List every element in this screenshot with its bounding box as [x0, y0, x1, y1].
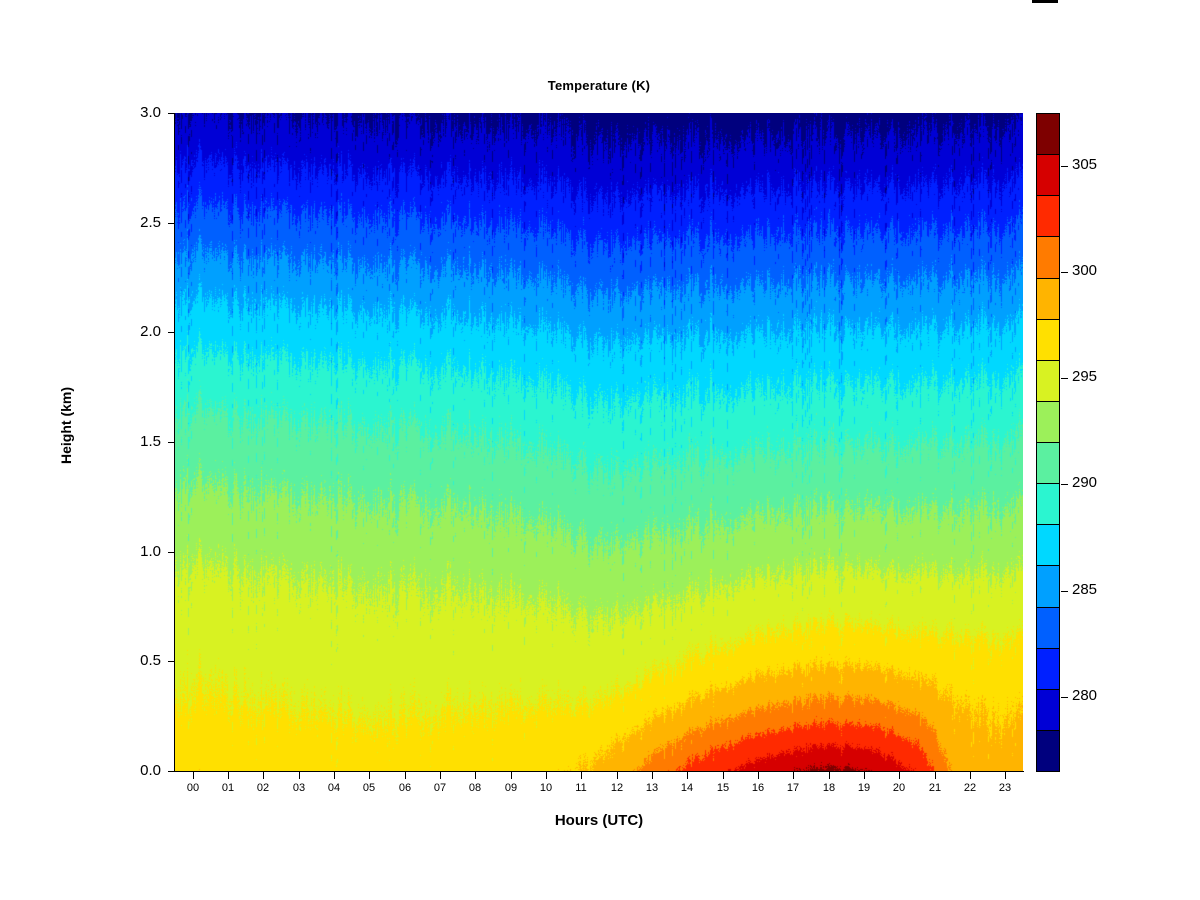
x-tick-mark [511, 772, 512, 779]
colorbar-band[interactable] [1036, 401, 1060, 443]
y-tick-mark [168, 332, 175, 333]
colorbar-band[interactable] [1036, 442, 1060, 484]
colorbar-band[interactable] [1036, 565, 1060, 607]
x-tick-mark [405, 772, 406, 779]
x-tick-label: 06 [399, 782, 411, 794]
y-tick-mark [168, 552, 175, 553]
x-tick-mark [899, 772, 900, 779]
y-tick-label: 1.5 [117, 433, 161, 450]
y-tick-label: 0.5 [117, 652, 161, 669]
x-tick-mark [263, 772, 264, 779]
colorbar-tick-label: 295 [1072, 368, 1097, 385]
y-tick-mark [168, 771, 175, 772]
x-axis-spine [174, 771, 1024, 772]
x-tick-label: 19 [858, 782, 870, 794]
x-tick-mark [299, 772, 300, 779]
x-tick-mark [369, 772, 370, 779]
x-tick-label: 09 [505, 782, 517, 794]
x-tick-mark [475, 772, 476, 779]
y-axis-label: Height (km) [58, 436, 74, 464]
colorbar-tick-mark [1061, 166, 1068, 167]
x-tick-label: 13 [646, 782, 658, 794]
colorbar-band[interactable] [1036, 360, 1060, 402]
x-tick-label: 23 [999, 782, 1011, 794]
x-tick-label: 17 [787, 782, 799, 794]
colorbar-band[interactable] [1036, 154, 1060, 196]
x-tick-mark [864, 772, 865, 779]
y-tick-mark [168, 442, 175, 443]
colorbar-band[interactable] [1036, 319, 1060, 361]
colorbar-tick-mark [1061, 484, 1068, 485]
colorbar-band[interactable] [1036, 689, 1060, 731]
x-tick-mark [228, 772, 229, 779]
x-tick-label: 22 [964, 782, 976, 794]
top-edge-artifact [1032, 0, 1058, 3]
x-tick-label: 18 [823, 782, 835, 794]
colorbar[interactable] [1036, 113, 1060, 771]
heatmap-plot-area[interactable] [175, 113, 1023, 771]
colorbar-band[interactable] [1036, 524, 1060, 566]
x-tick-label: 20 [893, 782, 905, 794]
colorbar-tick-label: 305 [1072, 156, 1097, 173]
colorbar-tick-mark [1061, 591, 1068, 592]
colorbar-band[interactable] [1036, 607, 1060, 649]
x-tick-label: 12 [611, 782, 623, 794]
colorbar-tick-mark [1061, 272, 1068, 273]
y-tick-mark [168, 223, 175, 224]
x-tick-label: 04 [328, 782, 340, 794]
x-tick-label: 11 [575, 782, 586, 794]
x-tick-mark [581, 772, 582, 779]
x-tick-label: 00 [187, 782, 199, 794]
colorbar-tick-label: 285 [1072, 581, 1097, 598]
x-tick-label: 10 [540, 782, 552, 794]
y-tick-mark [168, 113, 175, 114]
x-tick-mark [723, 772, 724, 779]
page-title: Temperature (K) [175, 78, 1023, 93]
x-axis-label: Hours (UTC) [175, 812, 1023, 829]
x-tick-mark [687, 772, 688, 779]
colorbar-band[interactable] [1036, 278, 1060, 320]
x-tick-mark [829, 772, 830, 779]
colorbar-band[interactable] [1036, 483, 1060, 525]
y-tick-label: 3.0 [117, 104, 161, 121]
x-tick-label: 08 [469, 782, 481, 794]
x-tick-mark [758, 772, 759, 779]
colorbar-tick-mark [1061, 697, 1068, 698]
x-tick-mark [793, 772, 794, 779]
colorbar-band[interactable] [1036, 730, 1060, 772]
x-tick-mark [617, 772, 618, 779]
x-tick-label: 07 [434, 782, 446, 794]
x-tick-mark [970, 772, 971, 779]
y-tick-label: 1.0 [117, 543, 161, 560]
x-tick-mark [1005, 772, 1006, 779]
colorbar-band[interactable] [1036, 648, 1060, 690]
colorbar-tick-label: 300 [1072, 262, 1097, 279]
colorbar-tick-mark [1061, 378, 1068, 379]
x-tick-label: 05 [363, 782, 375, 794]
x-tick-label: 16 [752, 782, 764, 794]
temperature-field-canvas[interactable] [175, 113, 1023, 771]
colorbar-band[interactable] [1036, 236, 1060, 278]
x-tick-label: 15 [717, 782, 729, 794]
x-tick-mark [334, 772, 335, 779]
colorbar-band[interactable] [1036, 113, 1060, 155]
colorbar-tick-label: 290 [1072, 474, 1097, 491]
x-tick-label: 14 [681, 782, 693, 794]
y-tick-label: 2.5 [117, 214, 161, 231]
colorbar-tick-label: 280 [1072, 687, 1097, 704]
x-tick-mark [935, 772, 936, 779]
x-tick-label: 02 [257, 782, 269, 794]
y-tick-label: 2.0 [117, 323, 161, 340]
colorbar-band[interactable] [1036, 195, 1060, 237]
figure-canvas: Temperature (K) 3.02.52.01.51.00.50.0 He… [0, 0, 1200, 900]
y-tick-label: 0.0 [117, 762, 161, 779]
x-tick-mark [546, 772, 547, 779]
x-tick-label: 03 [293, 782, 305, 794]
x-tick-mark [652, 772, 653, 779]
x-tick-mark [440, 772, 441, 779]
x-tick-label: 01 [222, 782, 234, 794]
x-tick-label: 21 [929, 782, 941, 794]
x-tick-mark [193, 772, 194, 779]
y-tick-mark [168, 661, 175, 662]
